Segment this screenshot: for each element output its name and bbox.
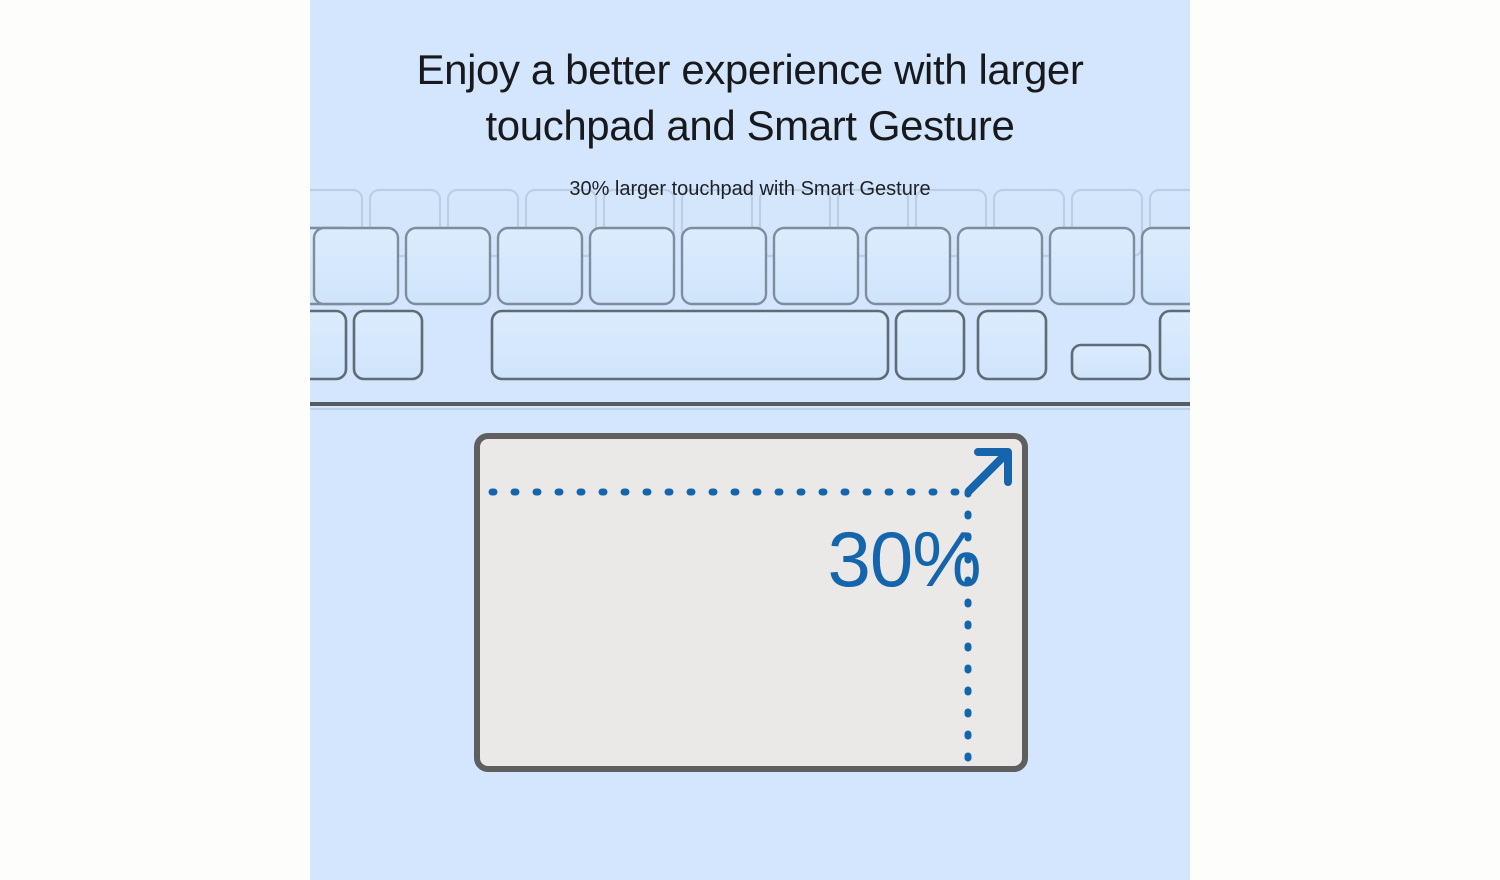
feature-panel: Enjoy a better experience with larger to… [310, 0, 1190, 880]
percent-value-label: 30% [827, 520, 980, 598]
keyboard-row-main [310, 228, 1190, 304]
screenshot-canvas: Enjoy a better experience with larger to… [0, 0, 1500, 880]
keyboard-illustration [310, 0, 1190, 412]
touchpad-diagram: 30% [474, 433, 1038, 782]
arrow-up-key [1072, 345, 1150, 379]
keyboard-row-bottom [310, 311, 1190, 379]
space-key [492, 311, 888, 379]
